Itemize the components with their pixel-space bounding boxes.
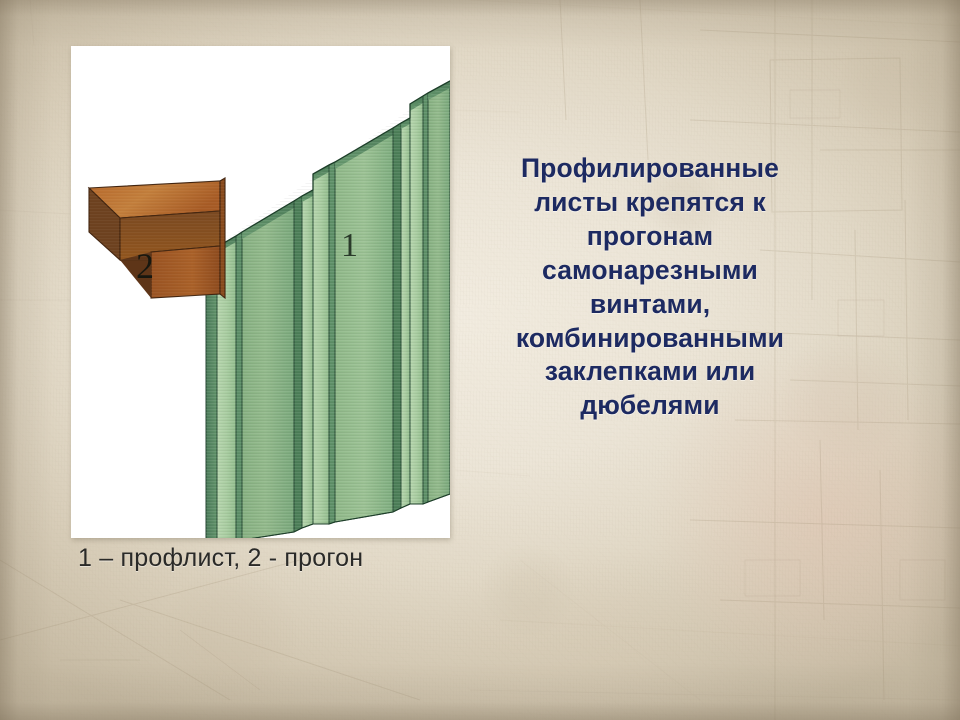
body-line-2: листы крепятся к [470,186,830,220]
body-line-4: самонарезными [470,254,830,288]
body-line-8: дюбелями [470,389,830,423]
figure-caption: 1 – профлист, 2 - прогон [78,544,438,573]
body-line-6: комбинированными [470,322,830,356]
body-text-block: Профилированные листы крепятся к прогона… [470,152,830,423]
profiled-sheet-illustration: 2 1 [71,46,450,538]
slide-canvas: 2 1 1 – профлист, 2 - прогон Профилирова… [0,0,960,720]
body-line-5: винтами, [470,288,830,322]
body-line-3: прогонам [470,220,830,254]
callout-1: 1 [341,227,358,264]
callout-2: 2 [136,246,154,286]
figure-panel: 2 1 [71,46,450,538]
body-line-1: Профилированные [470,152,830,186]
body-line-7: заклепками или [470,355,830,389]
